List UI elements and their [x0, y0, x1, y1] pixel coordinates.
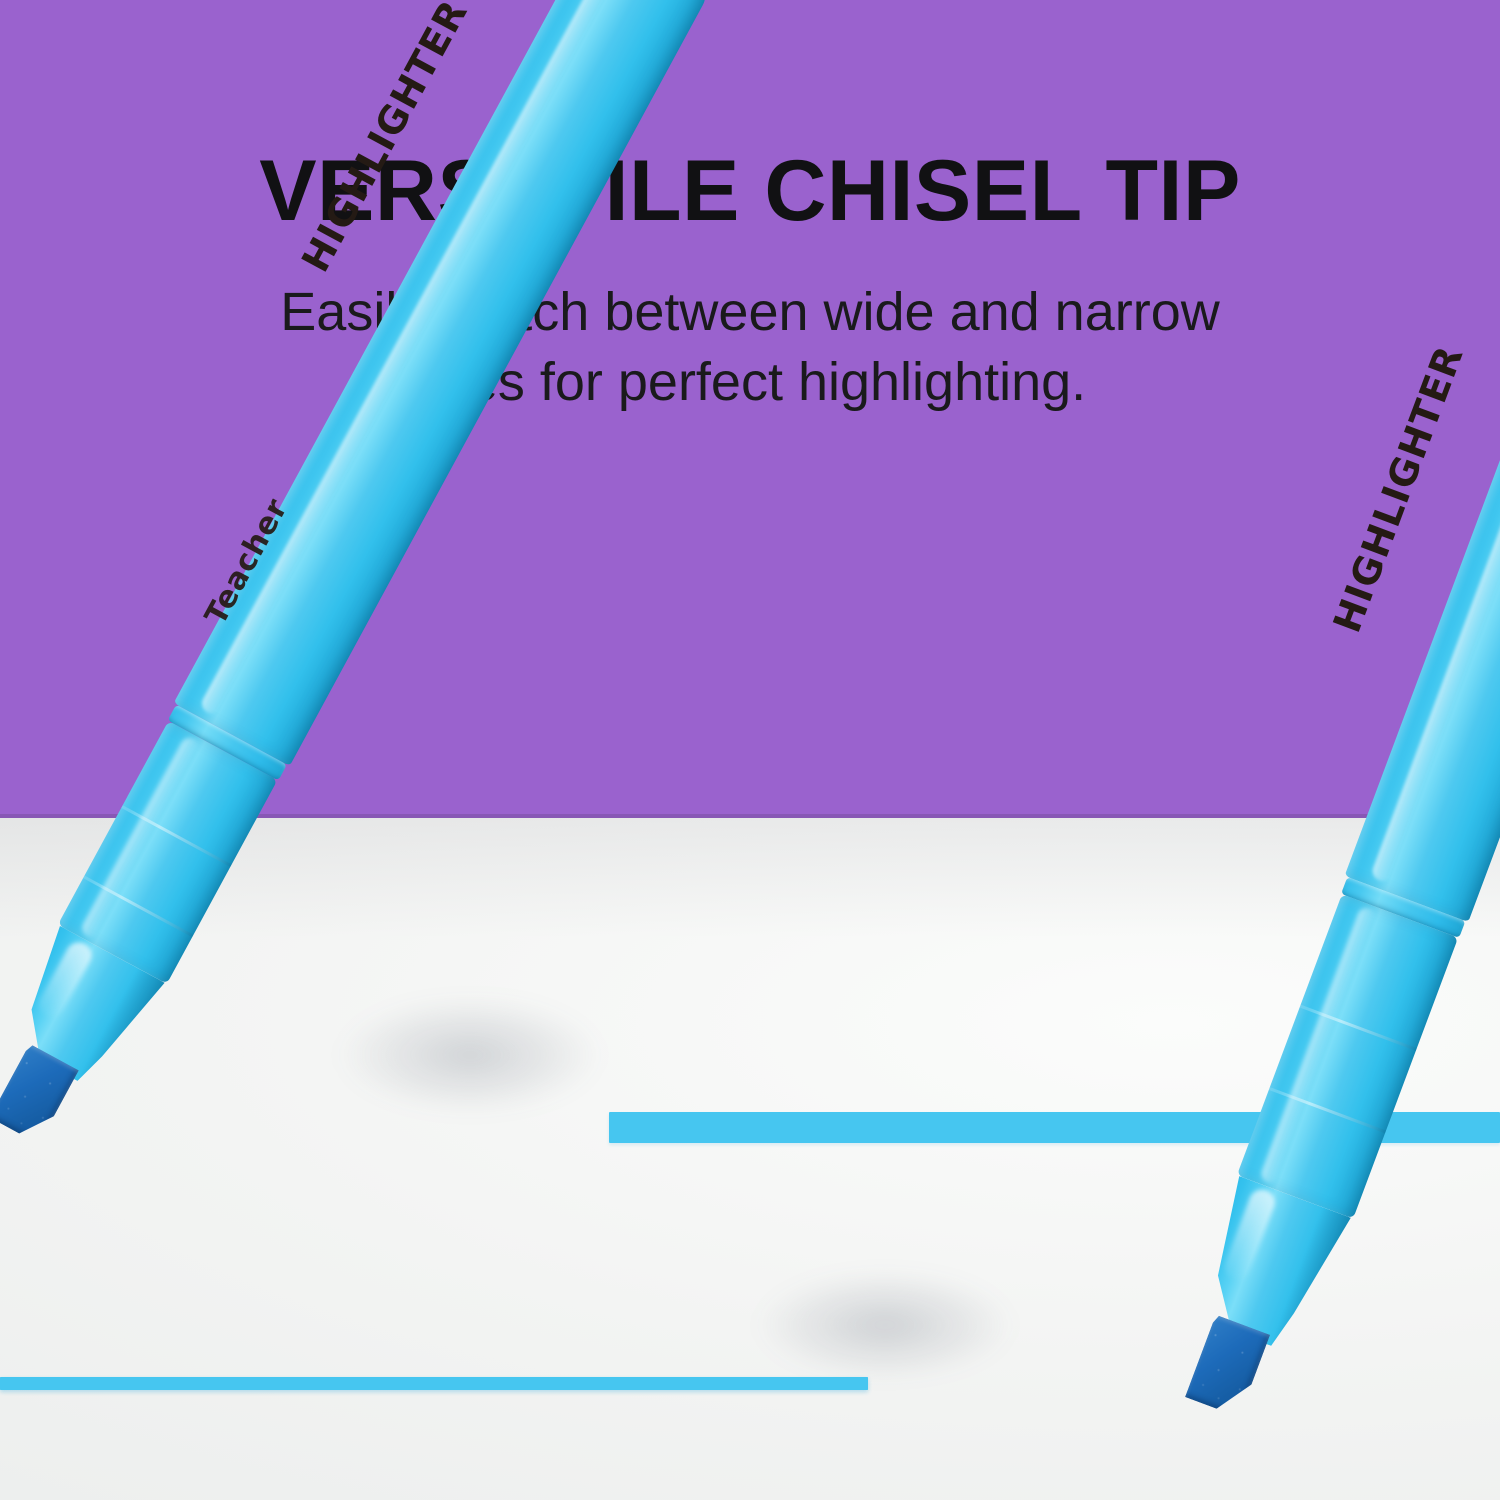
subtitle-line-1: Easily switch between wide and narrow — [200, 277, 1300, 347]
product-feature-banner: VERSATILE CHISEL TIP Easily switch betwe… — [0, 0, 1500, 1500]
pen-right-cone-gloss — [1221, 1186, 1279, 1284]
page-subtitle: Easily switch between wide and narrow li… — [0, 277, 1500, 417]
narrow-highlight-stroke-overlay — [0, 1377, 868, 1390]
page-title: VERSATILE CHISEL TIP — [0, 148, 1500, 236]
pen-left-cone-gloss — [34, 938, 96, 1022]
